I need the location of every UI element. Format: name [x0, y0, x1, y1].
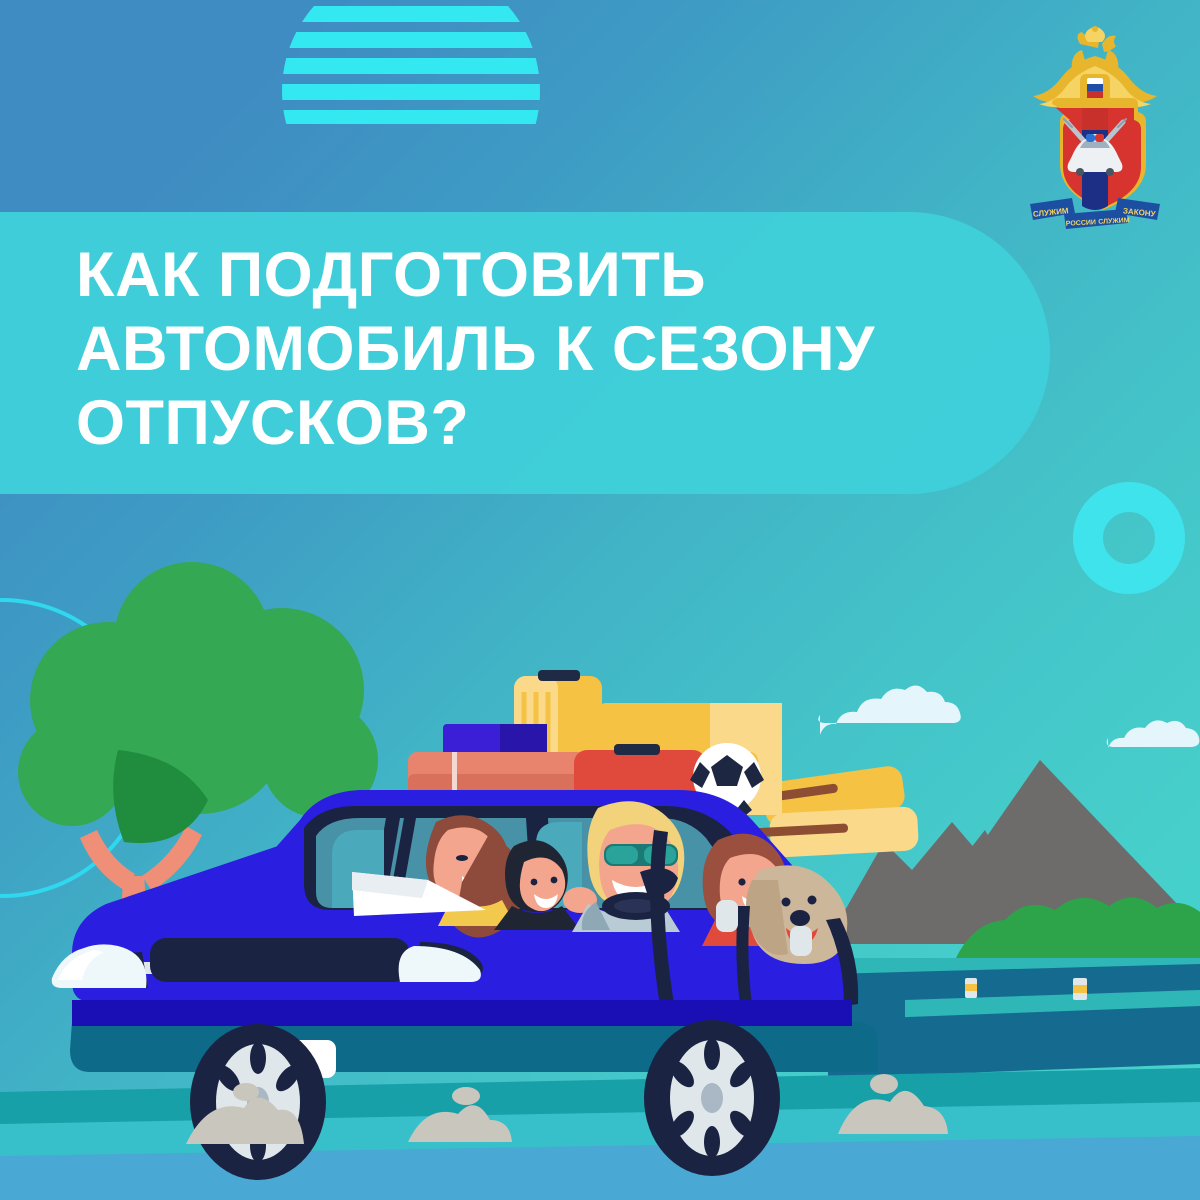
page-title: КАК ПОДГОТОВИТЬ АВТОМОБИЛЬ К СЕЗОНУ ОТПУ… — [76, 238, 1006, 460]
door-handle — [716, 900, 738, 932]
mvd-emblem: СЛУЖИМ ЗАКОНУ РОССИИ СЛУЖИМ — [1020, 26, 1170, 231]
sunglasses-icon — [604, 844, 678, 866]
poster: КАК ПОДГОТОВИТЬ АВТОМОБИЛЬ К СЕЗОНУ ОТПУ… — [0, 0, 1200, 1200]
door-handle — [790, 926, 812, 956]
road-marker — [965, 978, 977, 998]
donut-ring-decoration — [1073, 482, 1185, 594]
shield-icon — [1052, 98, 1146, 210]
car-bumper — [72, 1000, 852, 1026]
eye — [456, 855, 468, 861]
tree-foliage — [18, 562, 378, 826]
grille — [150, 938, 410, 982]
cloud-icon — [1107, 720, 1200, 748]
suitcase-handle — [538, 670, 580, 681]
road-marker — [1073, 978, 1087, 1000]
eye — [531, 879, 538, 886]
cloud-icon — [818, 685, 961, 735]
wheel-rear — [644, 1020, 780, 1176]
banner-center-right-text: СЛУЖИМ — [1098, 217, 1130, 226]
dog-eye — [782, 898, 791, 907]
dog-eye — [808, 896, 817, 905]
eye — [738, 878, 745, 885]
dog-nose — [790, 910, 810, 926]
eye — [551, 877, 558, 884]
